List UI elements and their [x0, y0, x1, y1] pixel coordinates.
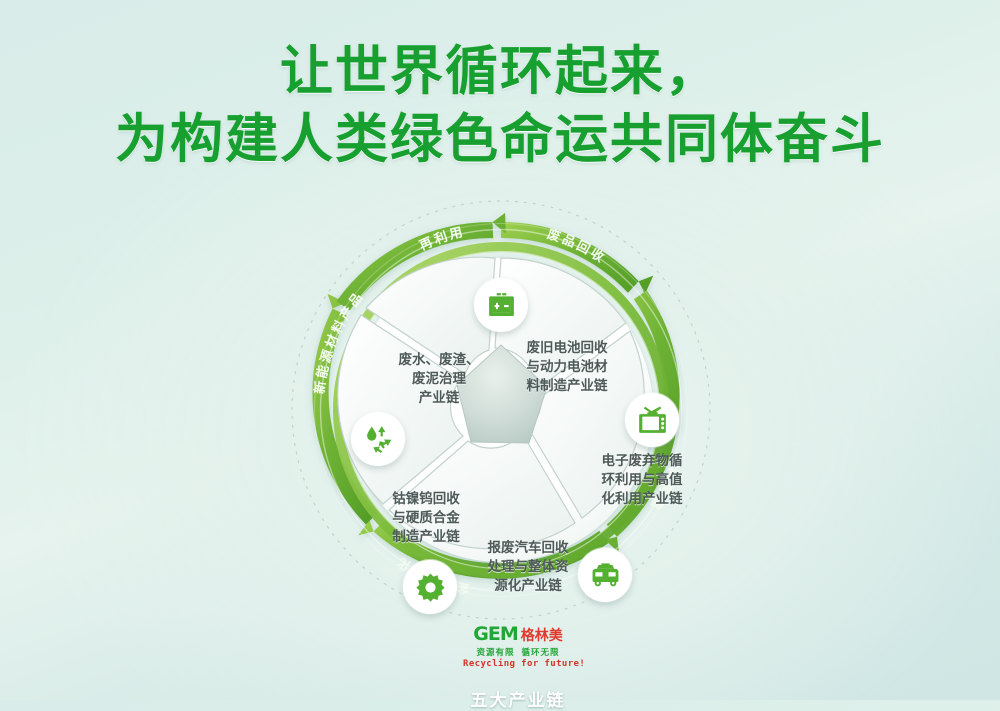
chain-text-line: 废泥治理 — [382, 369, 496, 388]
chain-text-line: 化利用产业链 — [586, 489, 698, 508]
chain-text-line: 环利用与高值 — [586, 470, 698, 489]
logo-wordmark: GEM格林美 — [463, 625, 573, 644]
television-icon — [636, 404, 669, 437]
chain-text-line: 料制造产业链 — [505, 376, 629, 395]
television-icon-bubble[interactable] — [625, 393, 679, 447]
chain-text-line: 源化产业链 — [470, 576, 586, 595]
chain-text-line: 制造产业链 — [372, 527, 480, 546]
chain-label-cobalt-nickel: 钴镍钨回收 与硬质合金 制造产业链 — [372, 489, 480, 546]
logo-chinese: 格林美 — [521, 627, 563, 643]
chain-text-line: 电子废弃物循 — [586, 451, 698, 470]
logo-latin: GEM — [473, 623, 517, 645]
circular-economy-diagram: 废品回收 材料再造 金属材料化 新能源材料产品 再利用 — [0, 195, 1000, 700]
gear-icon-bubble[interactable] — [403, 560, 457, 614]
recycle-water-icon-bubble[interactable] — [351, 412, 405, 466]
chain-text-line: 报废汽车回收 — [470, 538, 586, 557]
chain-text-line: 处理与整体资 — [470, 557, 586, 576]
chain-text-line: 钴镍钨回收 — [372, 489, 480, 508]
chain-text-line: 与动力电池材 — [505, 357, 629, 376]
logo-slogan-right: 循环无限 — [522, 647, 560, 657]
chain-text-line: 与硬质合金 — [372, 508, 480, 527]
chain-label-e-waste: 电子废弃物循 环利用与高值 化利用产业链 — [586, 451, 698, 508]
gear-icon — [414, 571, 447, 604]
chain-text-line: 产业链 — [382, 388, 496, 407]
battery-icon-bubble[interactable] — [474, 278, 528, 332]
headline-line-2: 为构建人类绿色命运共同体奋斗 — [0, 106, 1000, 174]
logo-tagline-en: Recycling for future! — [463, 659, 573, 669]
car-icon — [589, 559, 622, 592]
battery-icon — [485, 289, 518, 322]
chain-label-vehicle: 报废汽车回收 处理与整体资 源化产业链 — [470, 538, 586, 595]
chain-text-line: 废水、废渣、 — [382, 350, 496, 369]
logo-slogan: 资源有限循环无限 — [463, 646, 573, 658]
recycle-water-icon — [362, 423, 395, 456]
gem-logo: GEM格林美 资源有限循环无限 Recycling for future! 五大… — [463, 625, 573, 711]
center-subtitle: 五大产业链 — [463, 686, 573, 711]
car-icon-bubble[interactable] — [578, 548, 632, 602]
headline-line-1: 让世界循环起来， — [0, 38, 1000, 106]
chain-label-waste-water: 废水、废渣、 废泥治理 产业链 — [382, 350, 496, 407]
logo-slogan-left: 资源有限 — [476, 647, 514, 657]
chain-label-battery: 废旧电池回收 与动力电池材 料制造产业链 — [505, 338, 629, 395]
chain-text-line: 废旧电池回收 — [505, 338, 629, 357]
page-title: 让世界循环起来， 为构建人类绿色命运共同体奋斗 — [0, 38, 1000, 174]
